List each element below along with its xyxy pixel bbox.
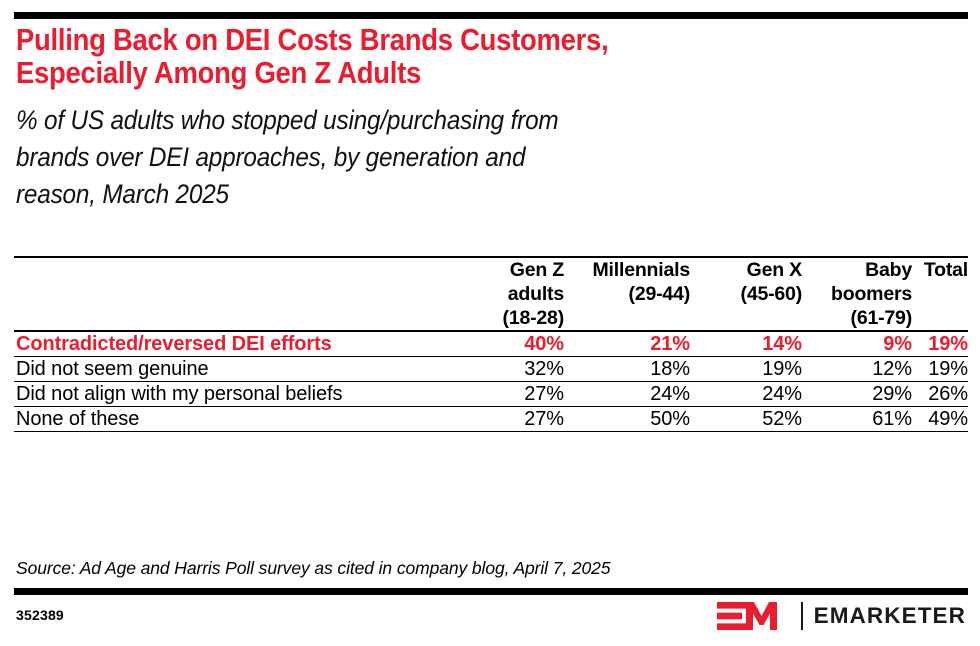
- table-body: Contradicted/reversed DEI efforts 40% 21…: [14, 331, 968, 432]
- table-row: Did not align with my personal beliefs 2…: [14, 382, 968, 407]
- cell-gen-x: 19%: [690, 357, 802, 382]
- cell-millennials: 21%: [564, 331, 690, 357]
- table-row: Did not seem genuine 32% 18% 19% 12% 19%: [14, 357, 968, 382]
- cell-gen-z: 40%: [440, 331, 564, 357]
- brand-lockup: EMARKETER: [717, 600, 966, 632]
- cell-total: 26%: [912, 382, 968, 407]
- row-label: Contradicted/reversed DEI efforts: [14, 331, 440, 357]
- table-row: None of these 27% 50% 52% 61% 49%: [14, 407, 968, 432]
- column-header-total: Total: [912, 257, 968, 331]
- cell-baby-boomers: 12%: [802, 357, 912, 382]
- chart-id: 352389: [16, 606, 64, 624]
- row-label: Did not align with my personal beliefs: [14, 382, 440, 407]
- top-divider-rule: [14, 12, 968, 19]
- column-header-baby-boomers: Baby boomers (61-79): [802, 257, 912, 331]
- cell-baby-boomers: 9%: [802, 331, 912, 357]
- brand-wordmark: EMARKETER: [814, 604, 966, 628]
- cell-gen-x: 14%: [690, 331, 802, 357]
- chart-page: Pulling Back on DEI Costs Brands Custome…: [0, 0, 980, 646]
- cell-total: 49%: [912, 407, 968, 432]
- column-header-gen-z: Gen Z adults (18-28): [440, 257, 564, 331]
- headline-block: Pulling Back on DEI Costs Brands Custome…: [16, 24, 962, 213]
- brand-divider: [801, 602, 803, 630]
- data-table-wrapper: Gen Z adults (18-28) Millennials (29-44)…: [14, 256, 968, 432]
- cell-millennials: 24%: [564, 382, 690, 407]
- bottom-divider-rule: [14, 588, 968, 595]
- cell-gen-z: 27%: [440, 382, 564, 407]
- data-table: Gen Z adults (18-28) Millennials (29-44)…: [14, 256, 968, 432]
- cell-total: 19%: [912, 331, 968, 357]
- cell-millennials: 50%: [564, 407, 690, 432]
- cell-gen-z: 27%: [440, 407, 564, 432]
- cell-millennials: 18%: [564, 357, 690, 382]
- cell-total: 19%: [912, 357, 968, 382]
- table-head: Gen Z adults (18-28) Millennials (29-44)…: [14, 257, 968, 331]
- em-logo-icon: [717, 601, 789, 631]
- page-subtitle: % of US adults who stopped using/purchas…: [16, 102, 867, 213]
- page-title: Pulling Back on DEI Costs Brands Custome…: [16, 24, 867, 90]
- table-header-row: Gen Z adults (18-28) Millennials (29-44)…: [14, 257, 968, 331]
- cell-gen-z: 32%: [440, 357, 564, 382]
- table-row: Contradicted/reversed DEI efforts 40% 21…: [14, 331, 968, 357]
- column-header-millennials: Millennials (29-44): [564, 257, 690, 331]
- row-label: Did not seem genuine: [14, 357, 440, 382]
- cell-baby-boomers: 61%: [802, 407, 912, 432]
- column-header-reason: [14, 257, 440, 331]
- cell-baby-boomers: 29%: [802, 382, 912, 407]
- cell-gen-x: 24%: [690, 382, 802, 407]
- cell-gen-x: 52%: [690, 407, 802, 432]
- column-header-gen-x: Gen X (45-60): [690, 257, 802, 331]
- row-label: None of these: [14, 407, 440, 432]
- source-note: Source: Ad Age and Harris Poll survey as…: [16, 558, 962, 579]
